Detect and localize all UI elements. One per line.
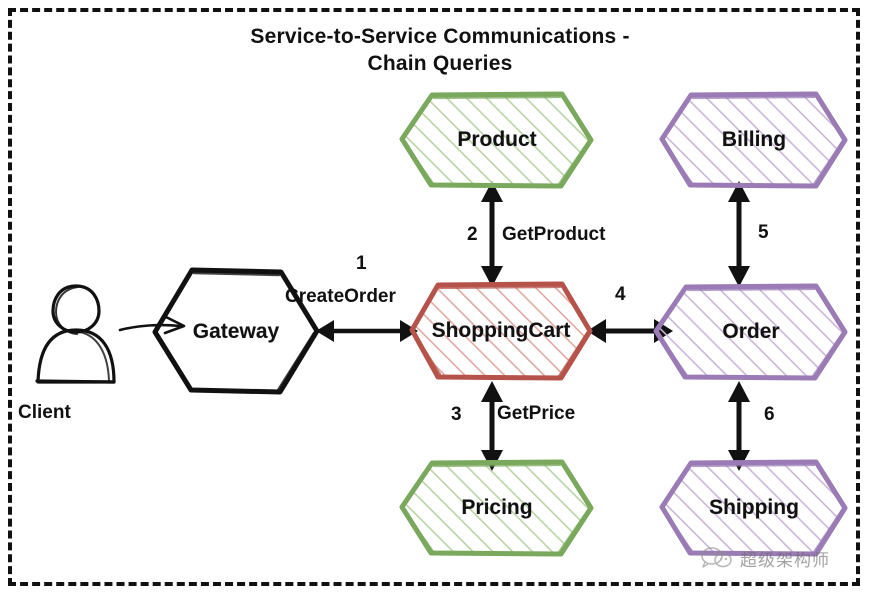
edge-label-getproduct: GetProduct [502, 224, 605, 246]
watermark: 超级架构师 [700, 545, 830, 571]
page-title-line2: Chain Queries [160, 51, 720, 78]
node-billing[interactable]: Billing [658, 90, 850, 190]
edge-order-billing [722, 178, 756, 290]
actor-client [26, 278, 126, 398]
edge-number-3: 3 [451, 404, 462, 426]
edge-number-2: 2 [467, 224, 478, 246]
edge-number-6: 6 [764, 404, 775, 426]
node-shoppingcart[interactable]: ShoppingCart [408, 280, 594, 382]
node-product[interactable]: Product [398, 90, 596, 190]
node-order[interactable]: Order [652, 282, 850, 382]
node-pricing[interactable]: Pricing [398, 458, 596, 558]
diagram-canvas: Service-to-Service Communications - Chai… [0, 0, 875, 598]
edge-number-4: 4 [615, 284, 626, 306]
watermark-text: 超级架构师 [740, 546, 830, 571]
node-gateway[interactable]: Gateway [150, 266, 322, 398]
page-title: Service-to-Service Communications - Chai… [160, 24, 720, 78]
wechat-icon [700, 545, 734, 571]
person-icon [26, 278, 126, 393]
page-title-line1: Service-to-Service Communications - [160, 24, 720, 51]
actor-client-label: Client [18, 402, 71, 424]
edge-number-1: 1 [356, 253, 367, 275]
edge-label-getprice: GetPrice [497, 403, 575, 425]
node-shipping[interactable]: Shipping [658, 458, 850, 558]
edge-gateway-shoppingcart [312, 315, 422, 347]
edge-number-5: 5 [758, 222, 769, 244]
